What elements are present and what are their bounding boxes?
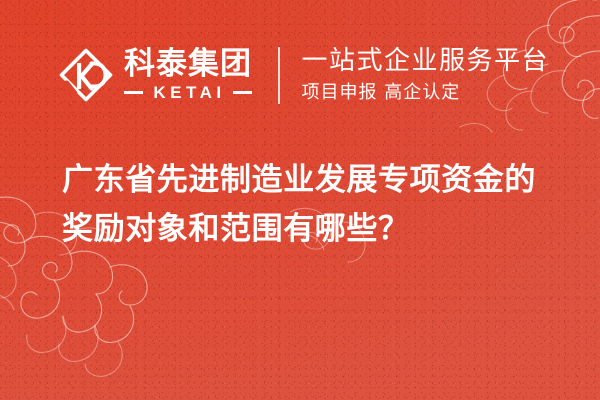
headline: 广东省先进制造业发展专项资金的 奖励对象和范围有哪些？ bbox=[62, 156, 562, 254]
tagline-main: 一站式企业服务平台 bbox=[302, 47, 550, 76]
ketai-diamond-monogram-icon bbox=[58, 47, 114, 103]
headline-line-2: 奖励对象和范围有哪些？ bbox=[62, 205, 562, 254]
promotional-banner: 科泰集团 KETAI 一站式企业服务平台 项目申报 高企认定 广东省先进制造业发… bbox=[0, 0, 600, 400]
brand-name-en-row: KETAI bbox=[124, 84, 252, 101]
header-divider bbox=[278, 47, 280, 104]
wordmark-dash-left bbox=[124, 91, 143, 94]
brand-name-cn: 科泰集团 bbox=[124, 49, 252, 81]
tagline-block: 一站式企业服务平台 项目申报 高企认定 bbox=[302, 47, 550, 104]
headline-line-1: 广东省先进制造业发展专项资金的 bbox=[62, 156, 562, 205]
banner-header: 科泰集团 KETAI 一站式企业服务平台 项目申报 高企认定 bbox=[58, 42, 549, 108]
brand-name-en: KETAI bbox=[143, 84, 232, 101]
brand-wordmark: 科泰集团 KETAI bbox=[124, 49, 252, 101]
wordmark-dash-right bbox=[233, 91, 252, 94]
tagline-sub: 项目申报 高企认定 bbox=[302, 82, 550, 104]
